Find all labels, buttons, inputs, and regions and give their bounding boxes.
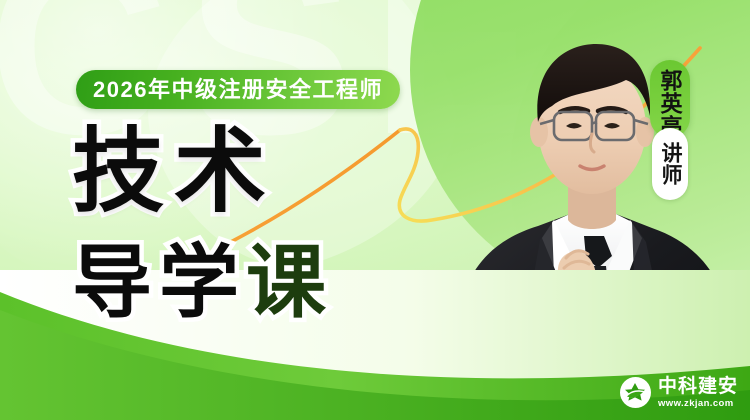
page-subtitle-accent: 课 <box>246 238 333 327</box>
page-title: 技术 <box>72 126 276 218</box>
instructor-role-pill: 讲师 <box>652 128 688 200</box>
brand-logo-text: 中科建安 www.zkjan.com <box>658 377 738 409</box>
brand-url: www.zkjan.com <box>658 399 738 409</box>
page-subtitle-black: 导学 <box>72 238 246 327</box>
brand-name: 中科建安 <box>658 377 738 396</box>
instructor-role: 讲师 <box>659 142 681 186</box>
brand-logo: 中科建安 www.zkjan.com <box>620 377 738 409</box>
course-cover-poster: CSE <box>0 0 750 420</box>
page-subtitle: 导学课 <box>72 243 333 323</box>
exam-badge: 2026年中级注册安全工程师 <box>76 70 400 109</box>
instructor-name-pill: 郭英亮 <box>650 60 690 138</box>
star-mountain-icon <box>620 377 651 408</box>
exam-badge-label: 2026年中级注册安全工程师 <box>93 79 383 101</box>
